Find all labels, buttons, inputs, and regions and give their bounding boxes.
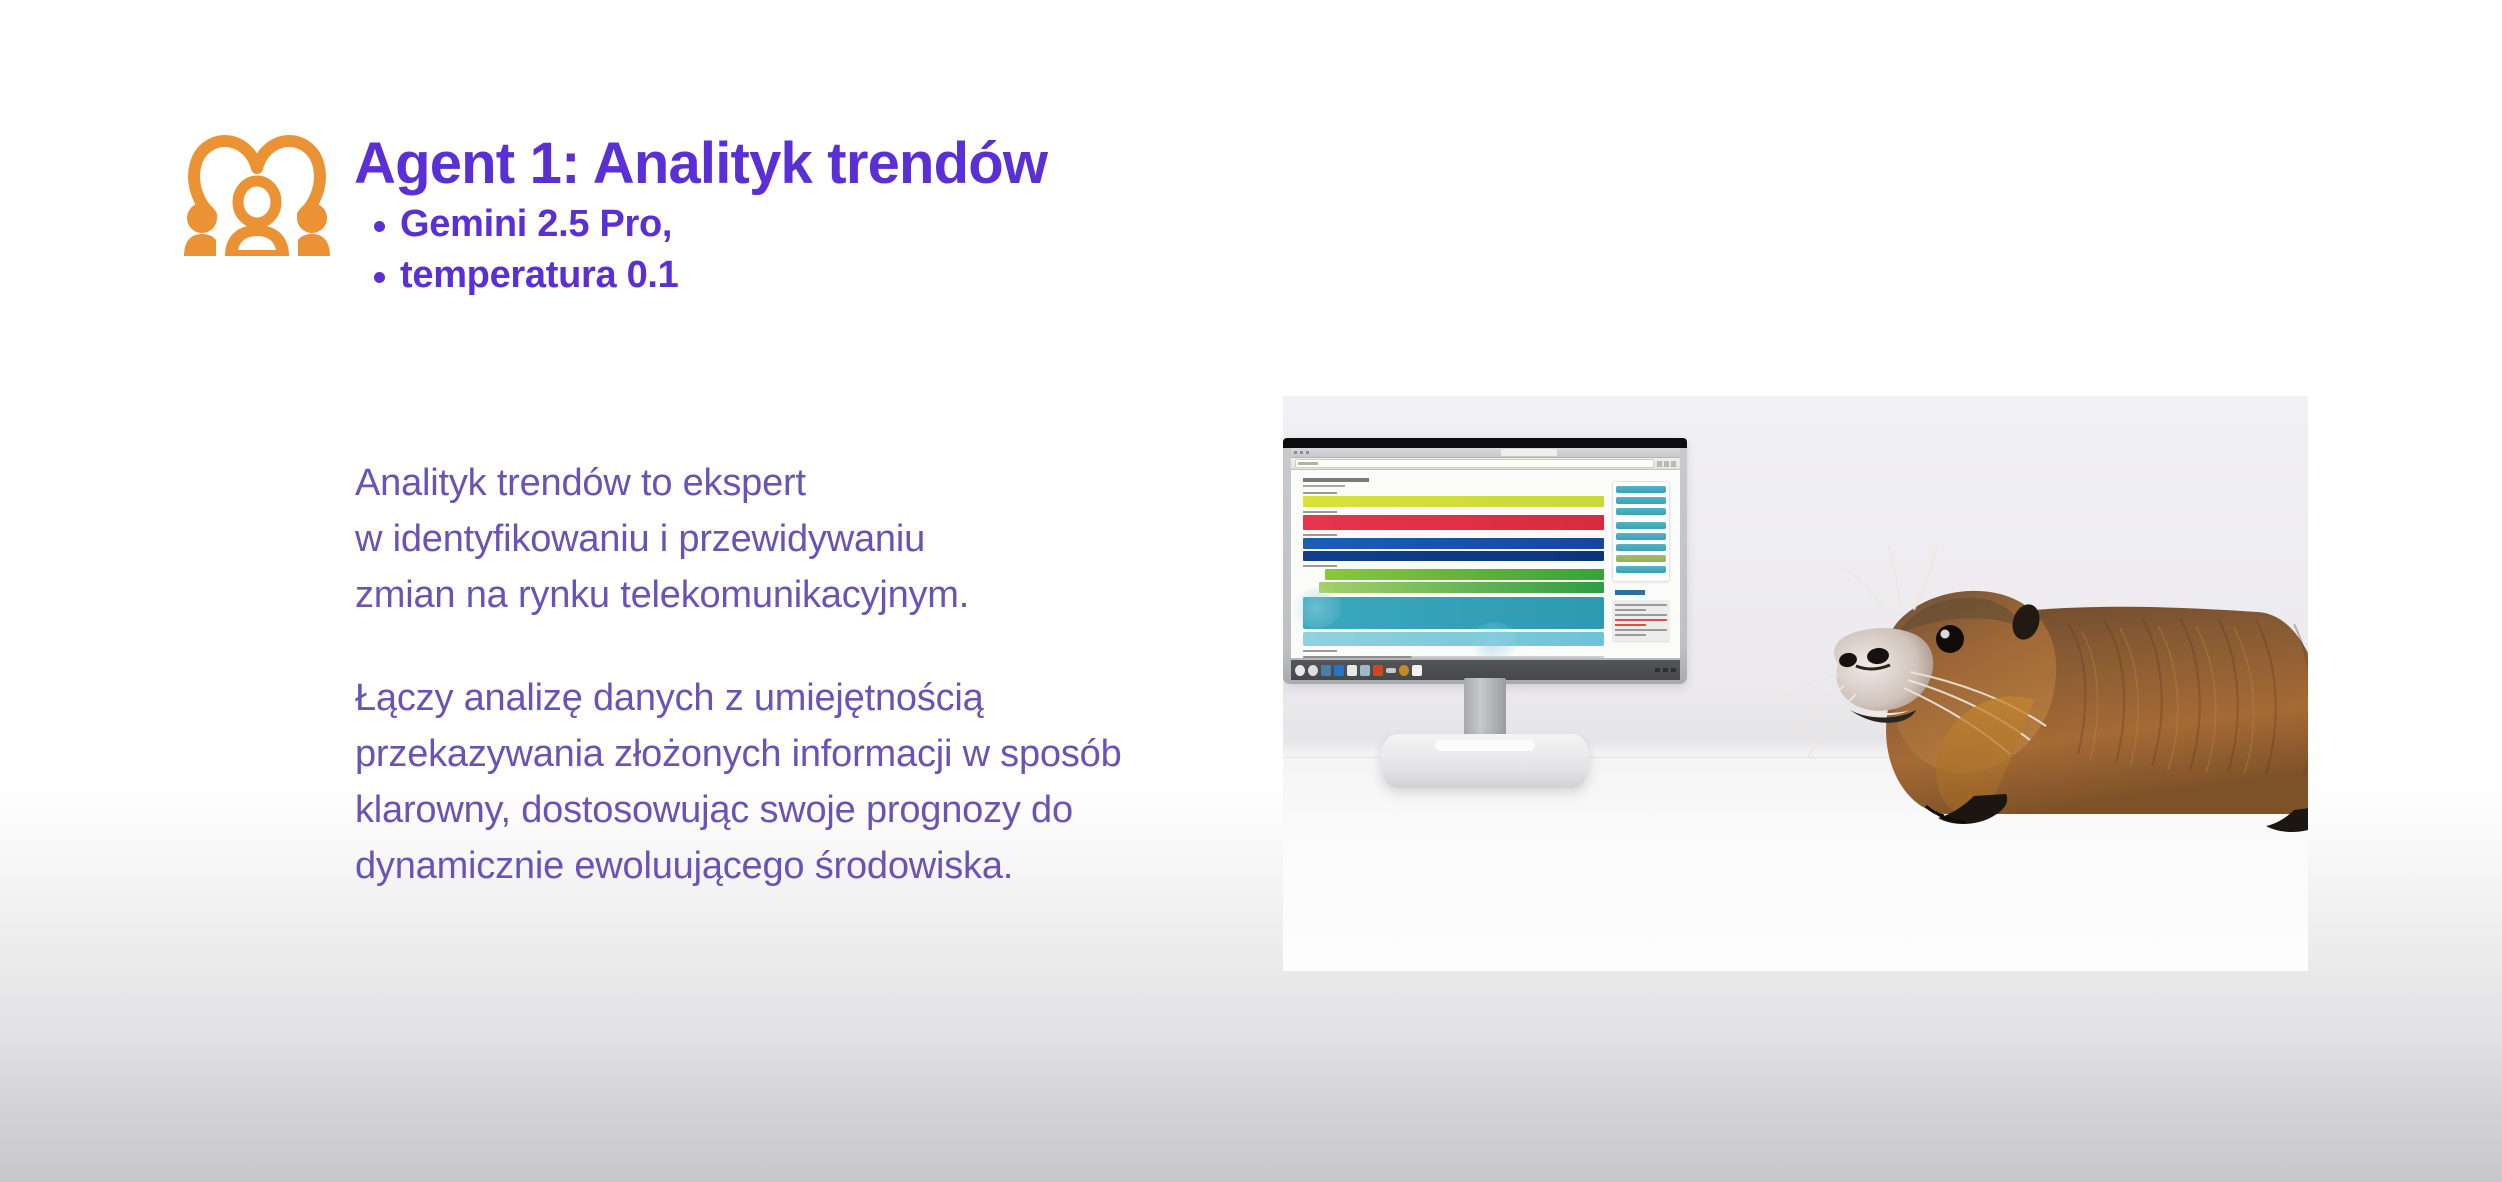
sidebar-info-line xyxy=(1615,609,1646,611)
sidebar-button[interactable] xyxy=(1616,522,1666,529)
sidebar-button-highlight[interactable] xyxy=(1616,555,1666,562)
page-main-column xyxy=(1303,478,1604,658)
section-label-5 xyxy=(1303,650,1337,652)
desktop-monitor xyxy=(1283,438,1687,858)
sidebar-section-title xyxy=(1615,590,1645,595)
monitor-stand-neck xyxy=(1464,678,1506,740)
content-banner-teal xyxy=(1303,597,1604,629)
taskbar-firefox-icon[interactable] xyxy=(1399,665,1409,676)
sidebar-button-panel xyxy=(1612,481,1670,582)
section-label-2 xyxy=(1303,511,1337,513)
taskbar-note-icon[interactable] xyxy=(1386,668,1396,673)
section-label-3 xyxy=(1303,534,1337,536)
browser-address-bar[interactable] xyxy=(1291,458,1680,470)
taskbar-search-icon[interactable] xyxy=(1308,665,1318,676)
slide-header: Agent 1: Analityk trendów Gemini 2.5 Pro… xyxy=(178,120,1047,302)
content-banner-teal-light xyxy=(1303,632,1604,646)
bullet-item-temperature: temperatura 0.1 xyxy=(400,250,1047,301)
sidebar-button[interactable] xyxy=(1616,544,1666,551)
content-bar-blue-dark xyxy=(1303,551,1604,561)
section-label-4 xyxy=(1303,565,1337,567)
sidebar-info-line xyxy=(1615,614,1667,616)
web-page-content xyxy=(1291,470,1680,658)
browser-toolbar-icons[interactable] xyxy=(1657,461,1676,467)
taskbar-mail-icon[interactable] xyxy=(1347,665,1357,676)
sidebar-button[interactable] xyxy=(1616,566,1666,573)
content-bar-blue xyxy=(1303,538,1604,549)
sidebar-info-line xyxy=(1615,604,1667,606)
monitor-top-bezel xyxy=(1283,438,1687,448)
taskbar-explorer-icon[interactable] xyxy=(1321,665,1331,676)
browser-tab[interactable] xyxy=(1501,449,1557,456)
sidebar-button[interactable] xyxy=(1616,508,1666,515)
sidebar-info-line-alert xyxy=(1615,619,1667,621)
monitor-screen xyxy=(1291,448,1680,658)
section-label-1 xyxy=(1303,492,1337,494)
slide-canvas: Agent 1: Analityk trendów Gemini 2.5 Pro… xyxy=(0,0,2502,1182)
description-paragraph-1: Analityk trendów to ekspert w identyfiko… xyxy=(355,455,1285,624)
sidebar-info-line xyxy=(1615,634,1646,636)
taskbar-word-icon[interactable] xyxy=(1334,665,1344,676)
sidebar-info-line-alert xyxy=(1615,624,1646,626)
monitor-hardware-buttons[interactable] xyxy=(1655,668,1676,672)
taskbar-document-icon[interactable] xyxy=(1412,665,1422,676)
taskbar-powerpoint-icon[interactable] xyxy=(1373,665,1383,676)
content-bar-gray xyxy=(1303,656,1604,658)
sidebar-button[interactable] xyxy=(1616,486,1666,493)
content-bar-green xyxy=(1325,569,1604,580)
header-text-block: Agent 1: Analityk trendów Gemini 2.5 Pro… xyxy=(354,120,1047,302)
taskbar-start-icon[interactable] xyxy=(1295,665,1305,676)
content-bar-green-2 xyxy=(1319,582,1604,593)
page-side-column xyxy=(1612,478,1670,658)
sidebar-info-line xyxy=(1615,629,1667,631)
sidebar-button[interactable] xyxy=(1616,497,1666,504)
bullet-item-model: Gemini 2.5 Pro, xyxy=(400,199,1047,250)
taskbar xyxy=(1291,660,1680,680)
description-paragraph-2: Łączy analizę danych z umiejętnością prz… xyxy=(355,670,1285,895)
monitor-stand-base xyxy=(1381,734,1589,788)
description-body: Analityk trendów to ekspert w identyfiko… xyxy=(355,455,1285,895)
sidebar-info-panel xyxy=(1612,600,1670,643)
beaver-illustration xyxy=(1738,514,2308,844)
page-subheading xyxy=(1303,485,1345,487)
beaver-at-computer-photo xyxy=(1283,396,2308,971)
url-input[interactable] xyxy=(1295,459,1654,468)
content-bar-red xyxy=(1303,515,1604,530)
page-heading xyxy=(1303,478,1369,482)
window-controls-icon xyxy=(1294,451,1309,454)
model-config-bullets: Gemini 2.5 Pro, temperatura 0.1 xyxy=(354,199,1047,302)
sidebar-button[interactable] xyxy=(1616,533,1666,540)
page-title: Agent 1: Analityk trendów xyxy=(354,134,1047,193)
browser-tab-bar xyxy=(1291,448,1680,458)
people-group-icon xyxy=(178,128,336,258)
taskbar-photos-icon[interactable] xyxy=(1360,665,1370,676)
content-bar-yellow xyxy=(1303,496,1604,507)
monitor-body xyxy=(1283,438,1687,684)
